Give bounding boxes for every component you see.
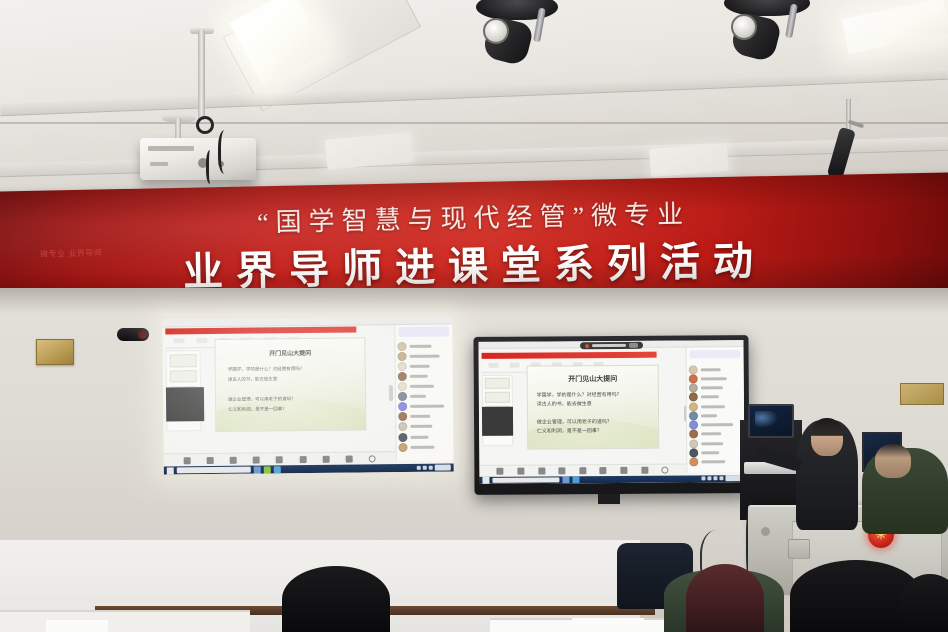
taskbar-clock[interactable]	[435, 465, 451, 471]
participant-name	[410, 375, 428, 378]
avatar	[399, 443, 408, 452]
ribbon-item[interactable]	[196, 338, 208, 343]
participant-name	[701, 377, 727, 380]
list-item[interactable]	[398, 351, 451, 362]
participant-name	[411, 425, 433, 428]
slide-bullet: 读古人的书，能去做生意	[537, 401, 592, 408]
camera-icon[interactable]	[517, 468, 524, 475]
participant-name	[410, 395, 426, 398]
annotate-icon[interactable]	[346, 456, 353, 463]
slide-title: 开门见山大提问	[216, 348, 365, 359]
recording-dot-icon	[585, 344, 589, 348]
participant-name	[411, 435, 429, 438]
slide-bullet: 仁义和利润，是不是一回事？	[228, 406, 287, 413]
audience-head-1	[282, 566, 390, 632]
student-desk-left	[0, 610, 250, 632]
start-button-icon[interactable]	[167, 467, 174, 474]
raise-hand-icon[interactable]	[620, 467, 627, 474]
slide-bullet: 读古人的书，能去做生意	[228, 377, 278, 384]
taskbar-search-input[interactable]	[492, 477, 559, 483]
avatar	[399, 432, 408, 441]
projector-mount-rod	[198, 30, 205, 120]
participant-name	[701, 414, 717, 417]
ribbon-item[interactable]	[488, 363, 499, 367]
mic-icon[interactable]	[497, 468, 504, 475]
audience-head-3	[900, 574, 948, 632]
windows-taskbar[interactable]	[479, 475, 744, 484]
classroom-scene: “国学智慧与现代经管”微专业 业界导师进课堂系列活动 微专业 业界导师	[0, 0, 948, 632]
avatar	[689, 458, 698, 467]
ribbon-item[interactable]	[173, 339, 185, 344]
spotlight-base-icon	[476, 0, 558, 20]
list-item[interactable]	[398, 371, 451, 382]
start-button-icon[interactable]	[482, 477, 489, 484]
participant-name	[701, 386, 723, 389]
speaker-cap-icon	[138, 330, 147, 339]
taskbar-app-icon[interactable]	[264, 466, 271, 473]
participant-name	[701, 451, 719, 454]
projector-cable-secondary	[206, 150, 216, 184]
presentation-slide: 开门见山大提问 学国学，学的是什么？对经营有用吗？ 读古人的书，能去做生意 做企…	[215, 338, 367, 433]
audience-head-red	[686, 564, 764, 632]
list-item[interactable]	[398, 341, 451, 352]
avatar	[689, 365, 698, 374]
tv-stand-neck	[598, 494, 620, 504]
screen-sharing-indicator[interactable]	[579, 342, 642, 349]
raise-hand-icon[interactable]	[322, 456, 329, 463]
avatar	[689, 384, 698, 393]
record-icon[interactable]	[299, 456, 306, 463]
projector-drop-rod	[175, 118, 181, 140]
avatar	[398, 372, 407, 381]
list-item[interactable]	[689, 439, 742, 449]
ceiling-projector	[140, 138, 256, 180]
list-item[interactable]	[399, 431, 452, 442]
participant-name	[410, 354, 440, 357]
participants-panel	[394, 324, 453, 461]
avatar	[398, 362, 407, 371]
list-item[interactable]	[689, 420, 742, 430]
self-video-tile	[166, 387, 204, 421]
paper-sheet	[46, 620, 108, 632]
participant-name	[701, 442, 723, 445]
share-screen-icon[interactable]	[538, 468, 545, 475]
ribbon-item[interactable]	[509, 363, 520, 367]
spotlight-left	[476, 0, 558, 78]
slide-bullet: 学国学，学的是什么？对经营有用吗？	[228, 366, 305, 373]
presenter-standing	[796, 420, 858, 530]
participant-name	[410, 365, 430, 368]
avatar	[398, 412, 407, 421]
avatar	[689, 374, 698, 383]
members-icon[interactable]	[253, 457, 260, 464]
sharing-label	[592, 344, 626, 347]
slide-thumbnail[interactable]	[169, 354, 197, 367]
record-icon[interactable]	[600, 467, 607, 474]
participant-name	[410, 415, 430, 418]
list-item[interactable]	[398, 391, 451, 402]
list-item[interactable]	[689, 457, 742, 467]
slide-bullet: 做企业管理，可以用老子的道吗？	[228, 396, 296, 403]
taskbar-search-input[interactable]	[177, 467, 251, 473]
banner-shadow	[0, 288, 948, 314]
slide-bullet: 学国学，学的是什么？对经营有用吗？	[537, 391, 622, 399]
podium-control-slot	[788, 539, 810, 559]
tray-icon[interactable]	[701, 477, 705, 481]
participants-search-input[interactable]	[690, 350, 740, 359]
participant-name	[701, 460, 725, 463]
monitor-glow	[755, 411, 778, 427]
paper-sheet	[572, 618, 644, 632]
avatar	[689, 430, 698, 439]
tray-icon[interactable]	[719, 477, 723, 481]
tv-screen: 开门见山大提问 学国学，学的是什么？对经营有用吗？ 读古人的书，能去做生意 做企…	[478, 340, 744, 484]
annotate-icon[interactable]	[641, 467, 648, 474]
head	[811, 418, 843, 456]
participant-name	[701, 368, 721, 371]
projection-meeting-ui: 开门见山大提问 学国学，学的是什么？对经营有用吗？ 读古人的书，能去做生意 做企…	[162, 316, 454, 474]
avatar	[398, 342, 407, 351]
share-screen-icon[interactable]	[230, 457, 237, 464]
tray-icon[interactable]	[423, 466, 427, 470]
projector-vent	[150, 162, 168, 166]
head	[875, 444, 911, 478]
chat-icon[interactable]	[579, 467, 586, 474]
chat-icon[interactable]	[276, 456, 283, 463]
list-item[interactable]	[398, 411, 451, 422]
avatar	[398, 352, 407, 361]
list-item[interactable]	[689, 429, 742, 439]
members-icon[interactable]	[559, 468, 566, 475]
list-item[interactable]	[399, 421, 452, 432]
podium-cable-hole	[761, 527, 770, 536]
list-item[interactable]	[398, 381, 451, 392]
projector-cable	[218, 130, 234, 174]
slide-title: 开门见山大提问	[527, 374, 658, 385]
taskbar-app-icon[interactable]	[254, 466, 261, 473]
vertical-scrollbar[interactable]	[389, 385, 393, 401]
list-item[interactable]	[689, 374, 742, 384]
tray-icon[interactable]	[417, 466, 421, 470]
avatar	[689, 402, 698, 411]
projector-bracket	[196, 116, 214, 134]
spotlight-right	[724, 0, 810, 78]
participant-name	[410, 385, 434, 388]
avatar	[689, 421, 698, 430]
spotlight-lens-icon	[483, 18, 509, 44]
list-item[interactable]	[689, 365, 742, 375]
list-item[interactable]	[689, 411, 742, 421]
list-item[interactable]	[689, 392, 742, 402]
slide-thumbnail[interactable]	[169, 370, 197, 383]
self-video-tile	[482, 407, 514, 436]
taskbar-app-icon[interactable]	[573, 476, 580, 483]
spotlight-lens-icon	[731, 14, 757, 40]
presentation-slide: 开门见山大提问 学国学，学的是什么？对经营有用吗？ 读古人的书，能去做生意 做企…	[526, 365, 659, 450]
participant-name	[701, 396, 719, 399]
list-item[interactable]	[689, 402, 742, 412]
system-tray[interactable]	[701, 476, 741, 482]
participant-name	[701, 423, 733, 426]
projector-vent	[148, 146, 194, 151]
wall-mounted-display: 开门见山大提问 学国学，学的是什么？对经营有用吗？ 读古人的书，能去做生意 做企…	[473, 335, 749, 495]
slide-bullet: 做企业管理，可以用老子的道吗？	[537, 418, 612, 426]
wall-speaker	[117, 328, 149, 341]
assistant-bending	[862, 448, 948, 534]
slide-thumbnail[interactable]	[485, 378, 510, 389]
mic-icon[interactable]	[183, 457, 190, 464]
more-icon[interactable]	[369, 455, 376, 462]
avatar	[689, 439, 698, 448]
avatar	[689, 448, 698, 457]
list-item[interactable]	[398, 361, 451, 372]
tray-icon[interactable]	[429, 466, 433, 470]
list-item[interactable]	[398, 401, 451, 412]
more-icon[interactable]	[662, 467, 669, 474]
tray-icon[interactable]	[707, 477, 711, 481]
avatar	[398, 392, 407, 401]
participants-panel	[685, 347, 744, 472]
participant-name	[410, 405, 444, 408]
far-wall-plaque	[900, 383, 944, 405]
participant-name	[701, 405, 725, 408]
list-item[interactable]	[689, 383, 742, 393]
avatar	[398, 402, 407, 411]
side-monitor	[748, 404, 794, 438]
participants-search-input[interactable]	[399, 327, 449, 337]
banner-side-text: 微专业 业界导师	[12, 247, 130, 261]
participant-name	[410, 344, 432, 347]
avatar	[689, 393, 698, 402]
avatar	[399, 422, 408, 431]
slide-background-art	[215, 398, 367, 432]
tv-meeting-ui: 开门见山大提问 学国学，学的是什么？对经营有用吗？ 读古人的书，能去做生意 做企…	[478, 340, 744, 484]
camera-icon[interactable]	[207, 457, 214, 464]
taskbar-app-icon[interactable]	[274, 466, 281, 473]
list-item[interactable]	[689, 448, 742, 458]
ceiling-seam	[0, 122, 948, 124]
slide-thumbnail[interactable]	[485, 392, 510, 403]
avatar	[689, 411, 698, 420]
avatar	[398, 382, 407, 391]
taskbar-app-icon[interactable]	[563, 476, 570, 483]
stop-sharing-button[interactable]	[628, 343, 637, 348]
system-tray[interactable]	[417, 465, 451, 471]
participant-name	[701, 433, 721, 436]
wall-projection: 开门见山大提问 学国学，学的是什么？对经营有用吗？ 读古人的书，能去做生意 做企…	[162, 316, 454, 474]
slide-bullet: 仁义和利润，是不是一回事？	[537, 427, 602, 434]
participant-name	[411, 445, 435, 448]
gold-wall-plaque	[36, 339, 74, 365]
tray-icon[interactable]	[713, 477, 717, 481]
list-item[interactable]	[399, 442, 452, 453]
